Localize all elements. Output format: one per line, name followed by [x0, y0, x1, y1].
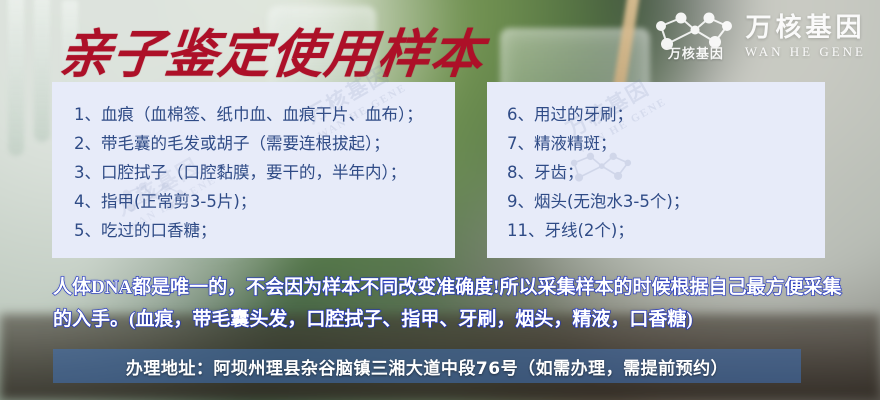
page-title: 亲子鉴定使用样本: [56, 12, 488, 87]
brand-name-cn: 万核基因: [745, 14, 865, 40]
brand-name-en: WAN HE GENE: [745, 45, 866, 58]
list-item: 11、牙线(2个)；: [507, 216, 825, 245]
list-item: 2、带毛囊的毛发或胡子（需要连根拔起）；: [74, 129, 455, 158]
sample-list-panel-left: 1、血痕（血棉签、纸巾血、血痕干片、血布）； 2、带毛囊的毛发或胡子（需要连根拔…: [52, 82, 455, 258]
test-tube-icon: [34, 0, 50, 142]
list-item: 8、牙齿；: [507, 158, 825, 187]
brand-name: 万核基因 WAN HE GENE: [745, 14, 866, 58]
list-item: 9、烟头(无泡水3-5个)；: [507, 187, 825, 216]
sample-list-panel-right: 6、用过的牙刷； 7、精液精斑； 8、牙齿； 9、烟头(无泡水3-5个)； 11…: [487, 82, 825, 258]
address-banner: 办理地址：阿坝州理县杂谷脑镇三湘大道中段76号（如需办理，需提前预约）: [53, 349, 801, 383]
dna-molecule-icon: 万核基因: [651, 12, 737, 60]
list-item: 4、指甲(正常剪3-5片)；: [74, 187, 455, 216]
list-item: 6、用过的牙刷；: [507, 100, 825, 129]
sample-list-right: 6、用过的牙刷； 7、精液精斑； 8、牙齿； 9、烟头(无泡水3-5个)； 11…: [487, 82, 825, 245]
sample-list-left: 1、血痕（血棉签、纸巾血、血痕干片、血布）； 2、带毛囊的毛发或胡子（需要连根拔…: [52, 82, 455, 245]
test-tube-icon: [8, 0, 24, 156]
poster-canvas: 万核基因 万核基因 WAN HE GENE 亲子鉴定使用样本 1、血痕（血棉签、…: [0, 0, 880, 400]
brand-logo: 万核基因 万核基因 WAN HE GENE: [651, 12, 866, 60]
list-item: 7、精液精斑；: [507, 129, 825, 158]
logo-mark-label: 万核基因: [657, 43, 735, 62]
address-text: 办理地址：阿坝州理县杂谷脑镇三湘大道中段76号（如需办理，需提前预约）: [126, 354, 728, 379]
list-item: 3、口腔拭子（口腔黏膜，要干的，半年内）；: [74, 158, 455, 187]
note-paragraph: 人体DNA都是唯一的，不会因为样本不同改变准确度!所以采集样本的时候根据自己最方…: [53, 272, 843, 336]
list-item: 1、血痕（血棉签、纸巾血、血痕干片、血布）；: [74, 100, 455, 129]
list-item: 5、吃过的口香糖；: [74, 216, 455, 245]
note-line-2: 的入手。(血痕，带毛囊头发，口腔拭子、指甲、牙刷，烟头，精液，口香糖): [53, 304, 843, 336]
note-line-1: 人体DNA都是唯一的，不会因为样本不同改变准确度!所以采集样本的时候根据自己最方…: [53, 272, 843, 304]
